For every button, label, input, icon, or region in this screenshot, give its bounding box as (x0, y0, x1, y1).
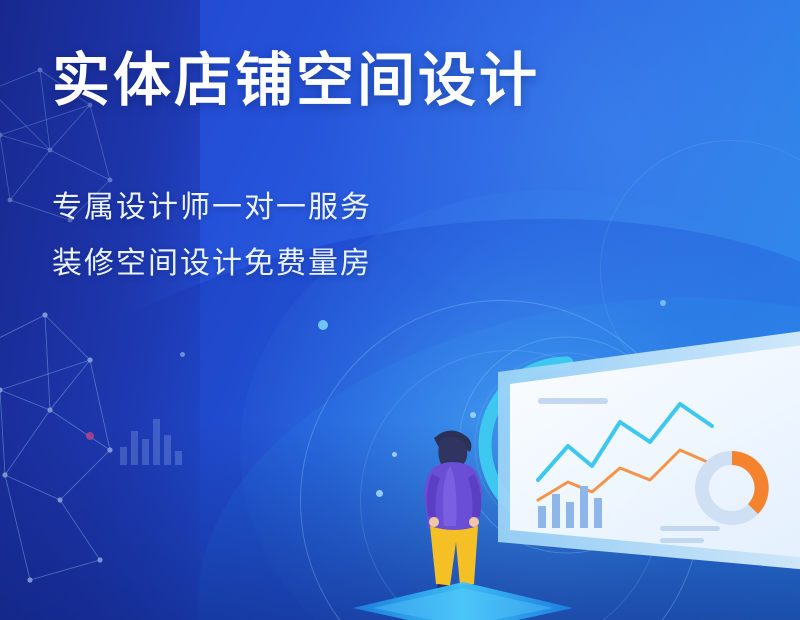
mesh-network-left-icon (0, 300, 230, 600)
decor-dot (660, 300, 666, 306)
subtitle-line-2: 装修空间设计免费量房 (52, 238, 372, 282)
decor-dot (376, 490, 383, 497)
decor-dot (318, 320, 328, 330)
platform-graphic (348, 580, 578, 620)
faint-bar-chart-decor (120, 419, 186, 465)
dashboard-screen-graphic (480, 330, 800, 620)
decor-dot (180, 352, 185, 357)
promo-banner: 实体店铺空间设计 专属设计师一对一服务 装修空间设计免费量房 (0, 0, 800, 620)
subtitle-line-1: 专属设计师一对一服务 (52, 182, 372, 226)
decor-dot (86, 432, 94, 440)
page-title: 实体店铺空间设计 (52, 50, 540, 113)
